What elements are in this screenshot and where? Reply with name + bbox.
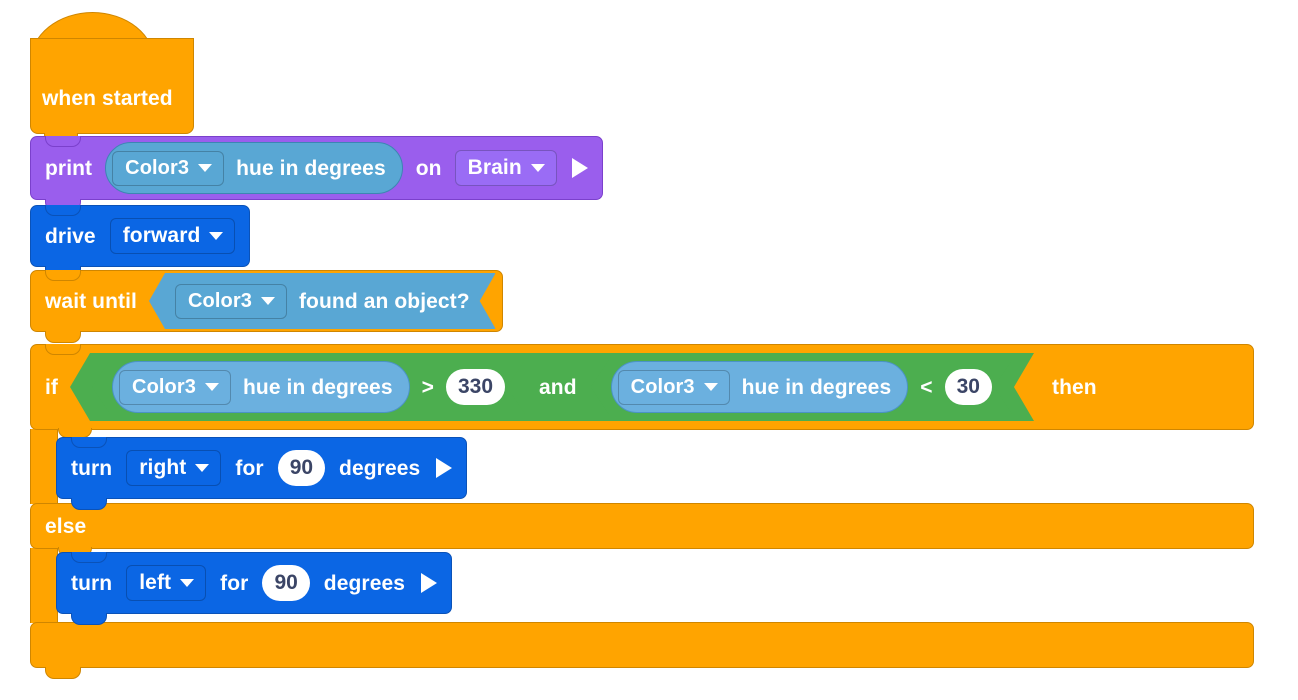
drive-label: drive — [45, 226, 96, 247]
block-wait-until[interactable]: wait until Color3 found an object? — [30, 270, 503, 332]
when-started-label: when started — [42, 88, 173, 109]
block-when-started[interactable]: when started — [30, 38, 194, 134]
operator-greater-than[interactable]: Color3 hue in degrees > 330 — [92, 360, 525, 414]
reporter-property-label: hue in degrees — [742, 377, 892, 398]
if-then-arm — [30, 429, 58, 504]
reporter-color3-hue-degrees[interactable]: Color3 hue in degrees — [611, 361, 909, 413]
chevron-down-icon — [180, 579, 194, 587]
chevron-down-icon — [531, 164, 545, 172]
print-on-label: on — [416, 158, 442, 179]
then-label: then — [1052, 377, 1097, 398]
chevron-down-icon — [261, 297, 275, 305]
comparison-value-input[interactable]: 330 — [446, 369, 505, 405]
play-icon[interactable] — [436, 458, 452, 478]
comparison-operator-symbol: < — [920, 377, 932, 398]
chevron-down-icon — [209, 232, 223, 240]
chevron-down-icon — [195, 464, 209, 472]
boolean-property-label: found an object? — [299, 291, 470, 312]
turn-units-label: degrees — [339, 458, 420, 479]
chevron-down-icon — [198, 164, 212, 172]
if-else-bottom-bar[interactable] — [30, 622, 1254, 668]
device-dropdown-label: Color3 — [631, 377, 695, 397]
comparison-value-input[interactable]: 30 — [945, 369, 992, 405]
device-dropdown-color3[interactable]: Color3 — [175, 284, 287, 319]
wait-until-label: wait until — [45, 291, 137, 312]
turn-for-label: for — [220, 573, 248, 594]
device-dropdown-label: Color3 — [125, 158, 189, 178]
chevron-down-icon — [704, 383, 718, 391]
turn-amount-input[interactable]: 90 — [262, 565, 309, 601]
block-print[interactable]: print Color3 hue in degrees on Brain — [30, 136, 603, 200]
and-label: and — [539, 377, 577, 398]
else-label: else — [45, 516, 86, 537]
turn-label: turn — [71, 458, 112, 479]
hat-body — [30, 38, 194, 134]
block-turn-right[interactable]: turn right for 90 degrees — [56, 437, 467, 499]
if-else-arm — [30, 548, 58, 623]
chevron-down-icon — [205, 383, 219, 391]
comparison-operator-symbol: > — [422, 377, 434, 398]
turn-direction-dropdown[interactable]: right — [126, 450, 221, 486]
reporter-property-label: hue in degrees — [236, 158, 386, 179]
block-drive[interactable]: drive forward — [30, 205, 250, 267]
else-bar[interactable]: else — [30, 503, 1254, 549]
boolean-color3-found-object[interactable]: Color3 found an object? — [149, 273, 496, 329]
device-dropdown-color3[interactable]: Color3 — [119, 370, 231, 405]
print-label: print — [45, 158, 92, 179]
reporter-property-label: hue in degrees — [243, 377, 393, 398]
operator-less-than[interactable]: Color3 hue in degrees < 30 — [591, 360, 1012, 414]
device-dropdown-color3[interactable]: Color3 — [618, 370, 730, 405]
turn-for-label: for — [235, 458, 263, 479]
hat-dome-fill — [31, 68, 193, 82]
turn-amount-input[interactable]: 90 — [278, 450, 325, 486]
turn-units-label: degrees — [324, 573, 405, 594]
print-target-dropdown[interactable]: Brain — [455, 150, 557, 186]
play-icon[interactable] — [421, 573, 437, 593]
device-dropdown-label: Color3 — [188, 291, 252, 311]
reporter-color3-hue-degrees[interactable]: Color3 hue in degrees — [105, 142, 403, 194]
turn-direction-label: right — [139, 457, 186, 478]
turn-direction-label: left — [139, 572, 171, 593]
print-target-label: Brain — [468, 157, 522, 178]
device-dropdown-label: Color3 — [132, 377, 196, 397]
device-dropdown-color3[interactable]: Color3 — [112, 151, 224, 186]
if-label: if — [45, 377, 58, 398]
play-icon[interactable] — [572, 158, 588, 178]
reporter-color3-hue-degrees[interactable]: Color3 hue in degrees — [112, 361, 410, 413]
operator-and[interactable]: Color3 hue in degrees > 330 and Color3 — [70, 353, 1034, 421]
if-header-bar[interactable]: if Color3 hue in degrees > 330 and — [30, 344, 1254, 430]
drive-direction-label: forward — [123, 225, 201, 246]
drive-direction-dropdown[interactable]: forward — [110, 218, 236, 254]
turn-label: turn — [71, 573, 112, 594]
block-turn-left[interactable]: turn left for 90 degrees — [56, 552, 452, 614]
block-workspace[interactable]: when started print Color3 hue in degrees… — [0, 0, 1298, 700]
turn-direction-dropdown[interactable]: left — [126, 565, 206, 601]
